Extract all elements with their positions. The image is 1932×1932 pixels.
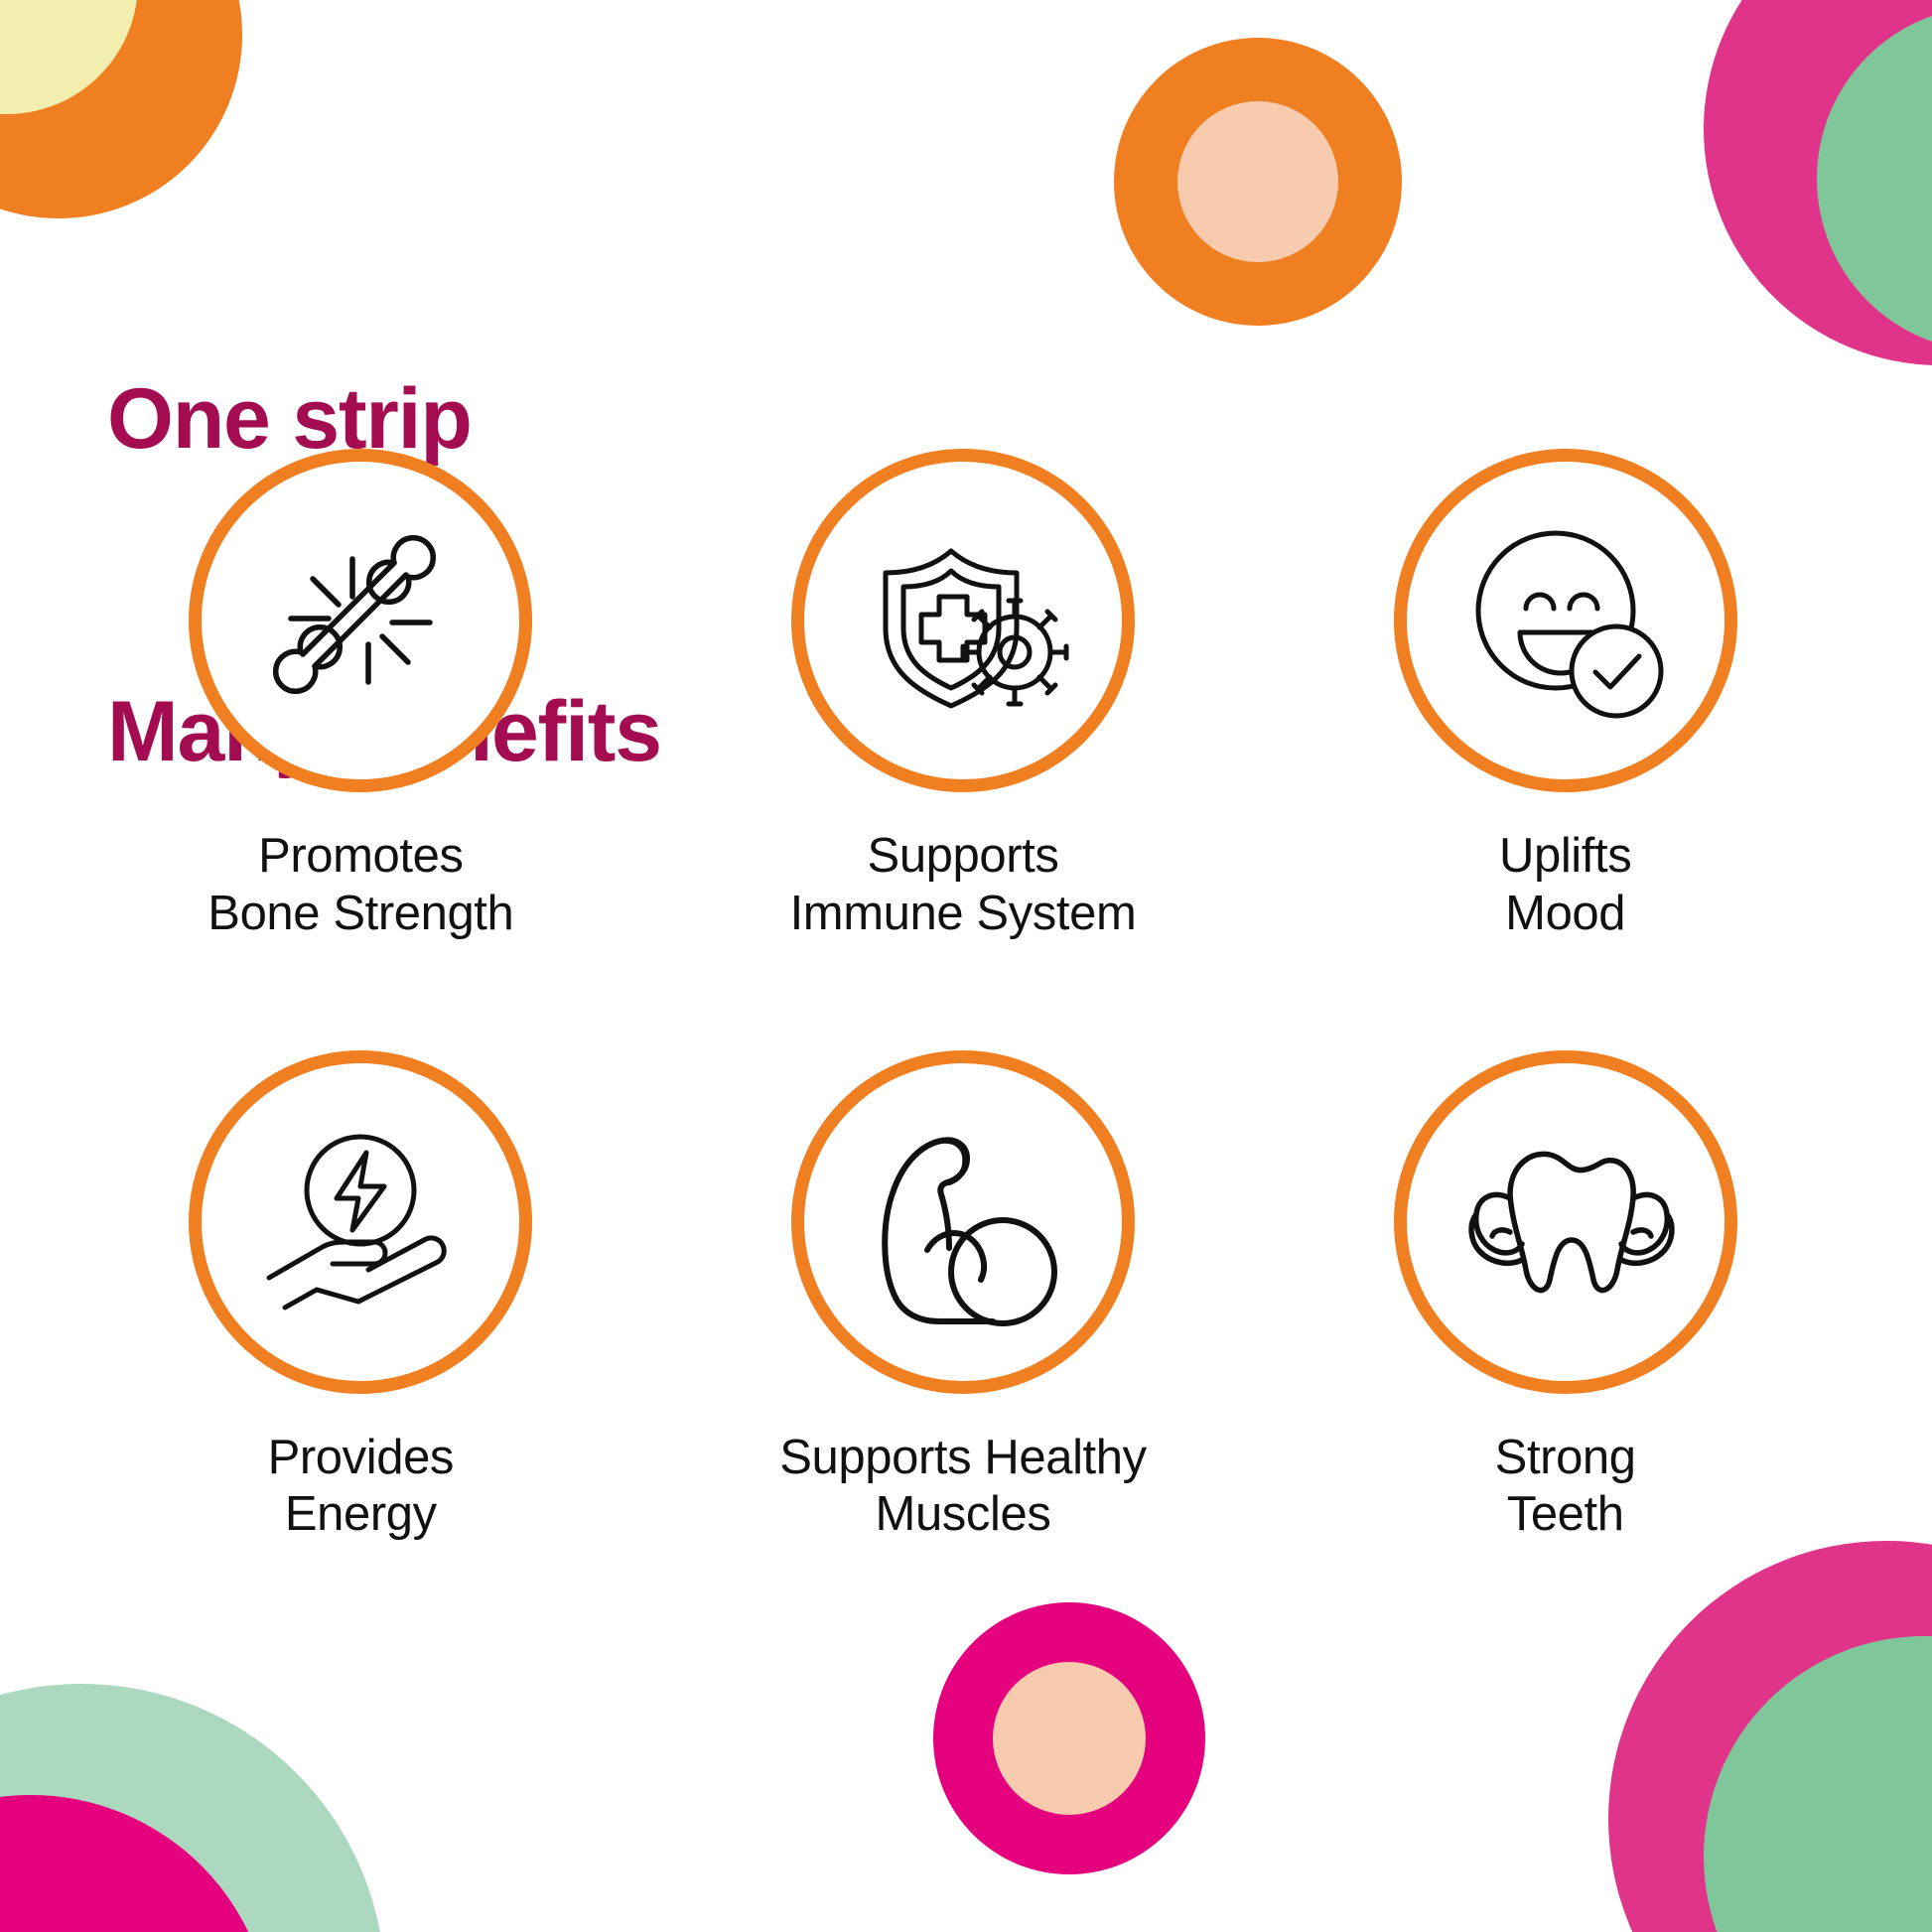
decoration-top-left-core: [0, 0, 138, 114]
bone-icon: [241, 501, 480, 740]
benefit-item-bone-strength: Promotes Bone Strength: [60, 449, 662, 943]
benefit-label: Provides Energy: [268, 1430, 454, 1545]
benefit-label: Promotes Bone Strength: [207, 828, 513, 943]
decoration-bottom-right-ring: [1608, 1541, 1932, 1932]
benefit-item-provides-energy: Provides Energy: [60, 1050, 662, 1545]
decoration-bottom-left-ring: [0, 1684, 385, 1932]
benefits-grid: Promotes Bone Strength: [60, 449, 1866, 1544]
benefit-item-strong-teeth: Strong Teeth: [1264, 1050, 1866, 1545]
decoration-bottom-center-ring: [933, 1602, 1205, 1874]
decoration-top-center-core: [1177, 101, 1338, 262]
icon-ring-energy: [189, 1050, 532, 1394]
flexed-bicep-icon: [844, 1103, 1082, 1341]
decoration-top-right-ring: [1704, 0, 1932, 365]
hand-energy-icon: [241, 1103, 480, 1341]
benefit-label: Strong Teeth: [1495, 1430, 1636, 1545]
benefit-label: Supports Healthy Muscles: [779, 1430, 1146, 1545]
decoration-bottom-center-core: [993, 1662, 1146, 1815]
icon-ring-immune: [791, 449, 1135, 792]
icon-ring-bone: [189, 449, 532, 792]
infographic-canvas: One strip Many benefits: [0, 0, 1932, 1932]
decoration-top-right-core: [1817, 6, 1932, 351]
benefit-label: Uplifts Mood: [1499, 828, 1631, 943]
decoration-bottom-left-core: [0, 1795, 272, 1932]
decoration-bottom-right-core: [1704, 1636, 1932, 1932]
benefit-item-immune-system: Supports Immune System: [662, 449, 1265, 943]
decoration-top-center-ring: [1114, 38, 1402, 326]
icon-ring-muscles: [791, 1050, 1135, 1394]
icon-ring-mood: [1394, 449, 1737, 792]
strong-tooth-icon: [1447, 1103, 1685, 1341]
smiley-check-icon: [1447, 501, 1685, 740]
benefit-item-uplifts-mood: Uplifts Mood: [1264, 449, 1866, 943]
benefit-item-healthy-muscles: Supports Healthy Muscles: [662, 1050, 1265, 1545]
benefit-label: Supports Immune System: [790, 828, 1137, 943]
icon-ring-teeth: [1394, 1050, 1737, 1394]
shield-virus-icon: [844, 501, 1082, 740]
